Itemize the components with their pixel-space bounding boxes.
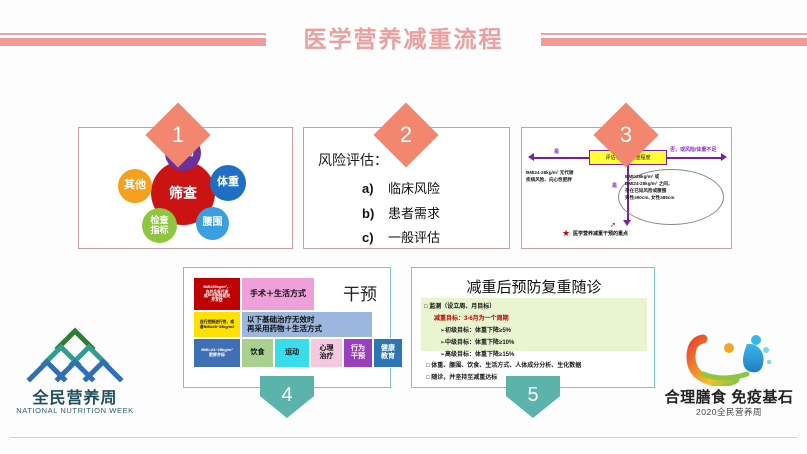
intervention-cell-bmi2428: BMI=24~28kg/m² 肥胖并标 (193, 338, 241, 368)
followup-line-primary: ➢初级目标：体重下降≥5% (440, 325, 511, 334)
star-icon: ★ (562, 229, 570, 238)
page-title: 医学营养减重流程 (0, 22, 807, 56)
flow-arrow-right (721, 153, 727, 161)
flow-oval-criteria: BMI≥28kg/m² 或 BMI24-28kg/m² 之间， 存在已知风险或腰… (625, 174, 718, 202)
intervention-cell-bmi35: BMI≥35kg/m²， 合并且有代谢 或产生肥胖相关 并发症 (193, 277, 241, 311)
bubble-other-label: 其他 (124, 180, 146, 192)
risk-item-c: c)一般评估 (362, 227, 440, 246)
logo-left-english: NATIONAL NUTRITION WEEK (14, 406, 136, 415)
step-number-2: 2 (383, 112, 429, 158)
footer-divider (10, 437, 797, 438)
followup-line-secondary: ➢中级目标：体重下降≥10% (440, 337, 514, 346)
risk-item-c-label: 一般评估 (388, 230, 440, 245)
flow-label-no-right: 否，或风险/体重不足 (670, 146, 716, 153)
flow-label-yes-down: 是 (612, 182, 617, 189)
slide-canvas: 医学营养减重流程 其他 筛查 身高 体重 腰围 检查 指标 1 风险评估： a)… (0, 0, 807, 454)
risk-item-c-marker: c) (362, 230, 388, 245)
flow-pointer-icon: ➚ (610, 221, 616, 229)
intervention-cell-behavior: 行为 干预 (343, 338, 373, 368)
risk-item-b: b)患者需求 (362, 203, 440, 222)
intervention-cell-drug: 以下基础治疗无效时 再采用药物＋生活方式 (241, 311, 373, 338)
followup-line-persist: □ 随诊，并坚持至减重达标 (426, 372, 497, 381)
flow-arrow-down (623, 220, 631, 226)
step-number-3: 3 (603, 112, 649, 158)
slide-header: 医学营养减重流程 (0, 22, 807, 64)
bubble-other: 其他 (118, 169, 152, 203)
risk-item-b-label: 患者需求 (388, 206, 440, 221)
intervention-cell-diet: 饮食 (241, 338, 274, 368)
risk-item-a-label: 临床风险 (388, 181, 440, 196)
logo-right-chinese: 合理膳食 免疫基石 (659, 386, 799, 407)
logo-healthy-diet: 合理膳食 免疫基石 2020全民营养周 (659, 334, 799, 430)
step-number-5: 5 (506, 378, 560, 412)
risk-item-a-marker: a) (362, 181, 388, 196)
panel-followup: 减重后预防复重随诊 □ 监测（设立周、月目标） 减重目标：3-6月为一个周期 ➢… (411, 267, 655, 388)
intervention-cell-bmi2835: 自行控制进行性，或 者BMI≥28~35kg/m2 (193, 311, 241, 338)
intervention-cell-psych: 心理 治疗 (310, 338, 343, 368)
bubble-weight-label: 体重 (217, 177, 239, 189)
bubble-indicators-label: 检查 指标 (150, 216, 168, 235)
risk-heading: 风险评估： (318, 150, 388, 170)
bubble-indicators: 检查 指标 (142, 208, 177, 243)
flow-line-right (667, 157, 723, 159)
flow-arrow-left (528, 153, 534, 161)
bubble-weight: 体重 (210, 165, 246, 201)
bubble-waist: 腰围 (196, 207, 229, 240)
logo-right-subtitle: 2020全民营养周 (659, 406, 799, 418)
followup-line-monitor: □ 监测（设立周、月目标） (424, 301, 495, 310)
mountain-chevron-icon (14, 322, 136, 382)
bubble-waist-label: 腰围 (203, 218, 223, 229)
intervention-cell-exercise: 运动 (274, 338, 310, 368)
risk-item-b-marker: b) (362, 206, 388, 221)
step-number-1: 1 (155, 112, 201, 158)
intervention-title: 干预 (343, 280, 377, 305)
flow-label-yes-left: 是 (554, 148, 559, 155)
logo-left-chinese: 全民营养周 (14, 384, 136, 408)
followup-title: 减重后预防复重随诊 (412, 276, 656, 297)
followup-line-goal: 减重目标：3-6月为一个周期 (434, 313, 509, 322)
followup-line-metrics: □ 体重、腰围、饮食、生活方式、人体成分分析、生化数据 (426, 360, 581, 369)
step-number-4: 4 (260, 378, 314, 412)
followup-line-advanced: ➢高级目标：体重下降≥15% (440, 349, 514, 358)
flow-left-criteria: BMI24-28kg/m² 无代谢 疾病风险、向心性肥胖 (526, 169, 592, 183)
bubble-screening-label: 筛查 (169, 186, 197, 201)
flow-key-point-text: 医学营养减重干预的重点 (573, 230, 628, 237)
flow-line-left (532, 157, 589, 159)
risk-item-a: a)临床风险 (362, 178, 440, 197)
intervention-cell-education: 健康 教育 (373, 338, 403, 368)
bowl-egg-icon (659, 334, 799, 386)
intervention-cell-surgery: 手术＋生活方式 (241, 277, 315, 311)
logo-national-nutrition-week: 全民营养周 NATIONAL NUTRITION WEEK (14, 322, 136, 428)
panel-intervention: 干预 BMI≥35kg/m²， 合并且有代谢 或产生肥胖相关 并发症 手术＋生活… (183, 267, 391, 388)
